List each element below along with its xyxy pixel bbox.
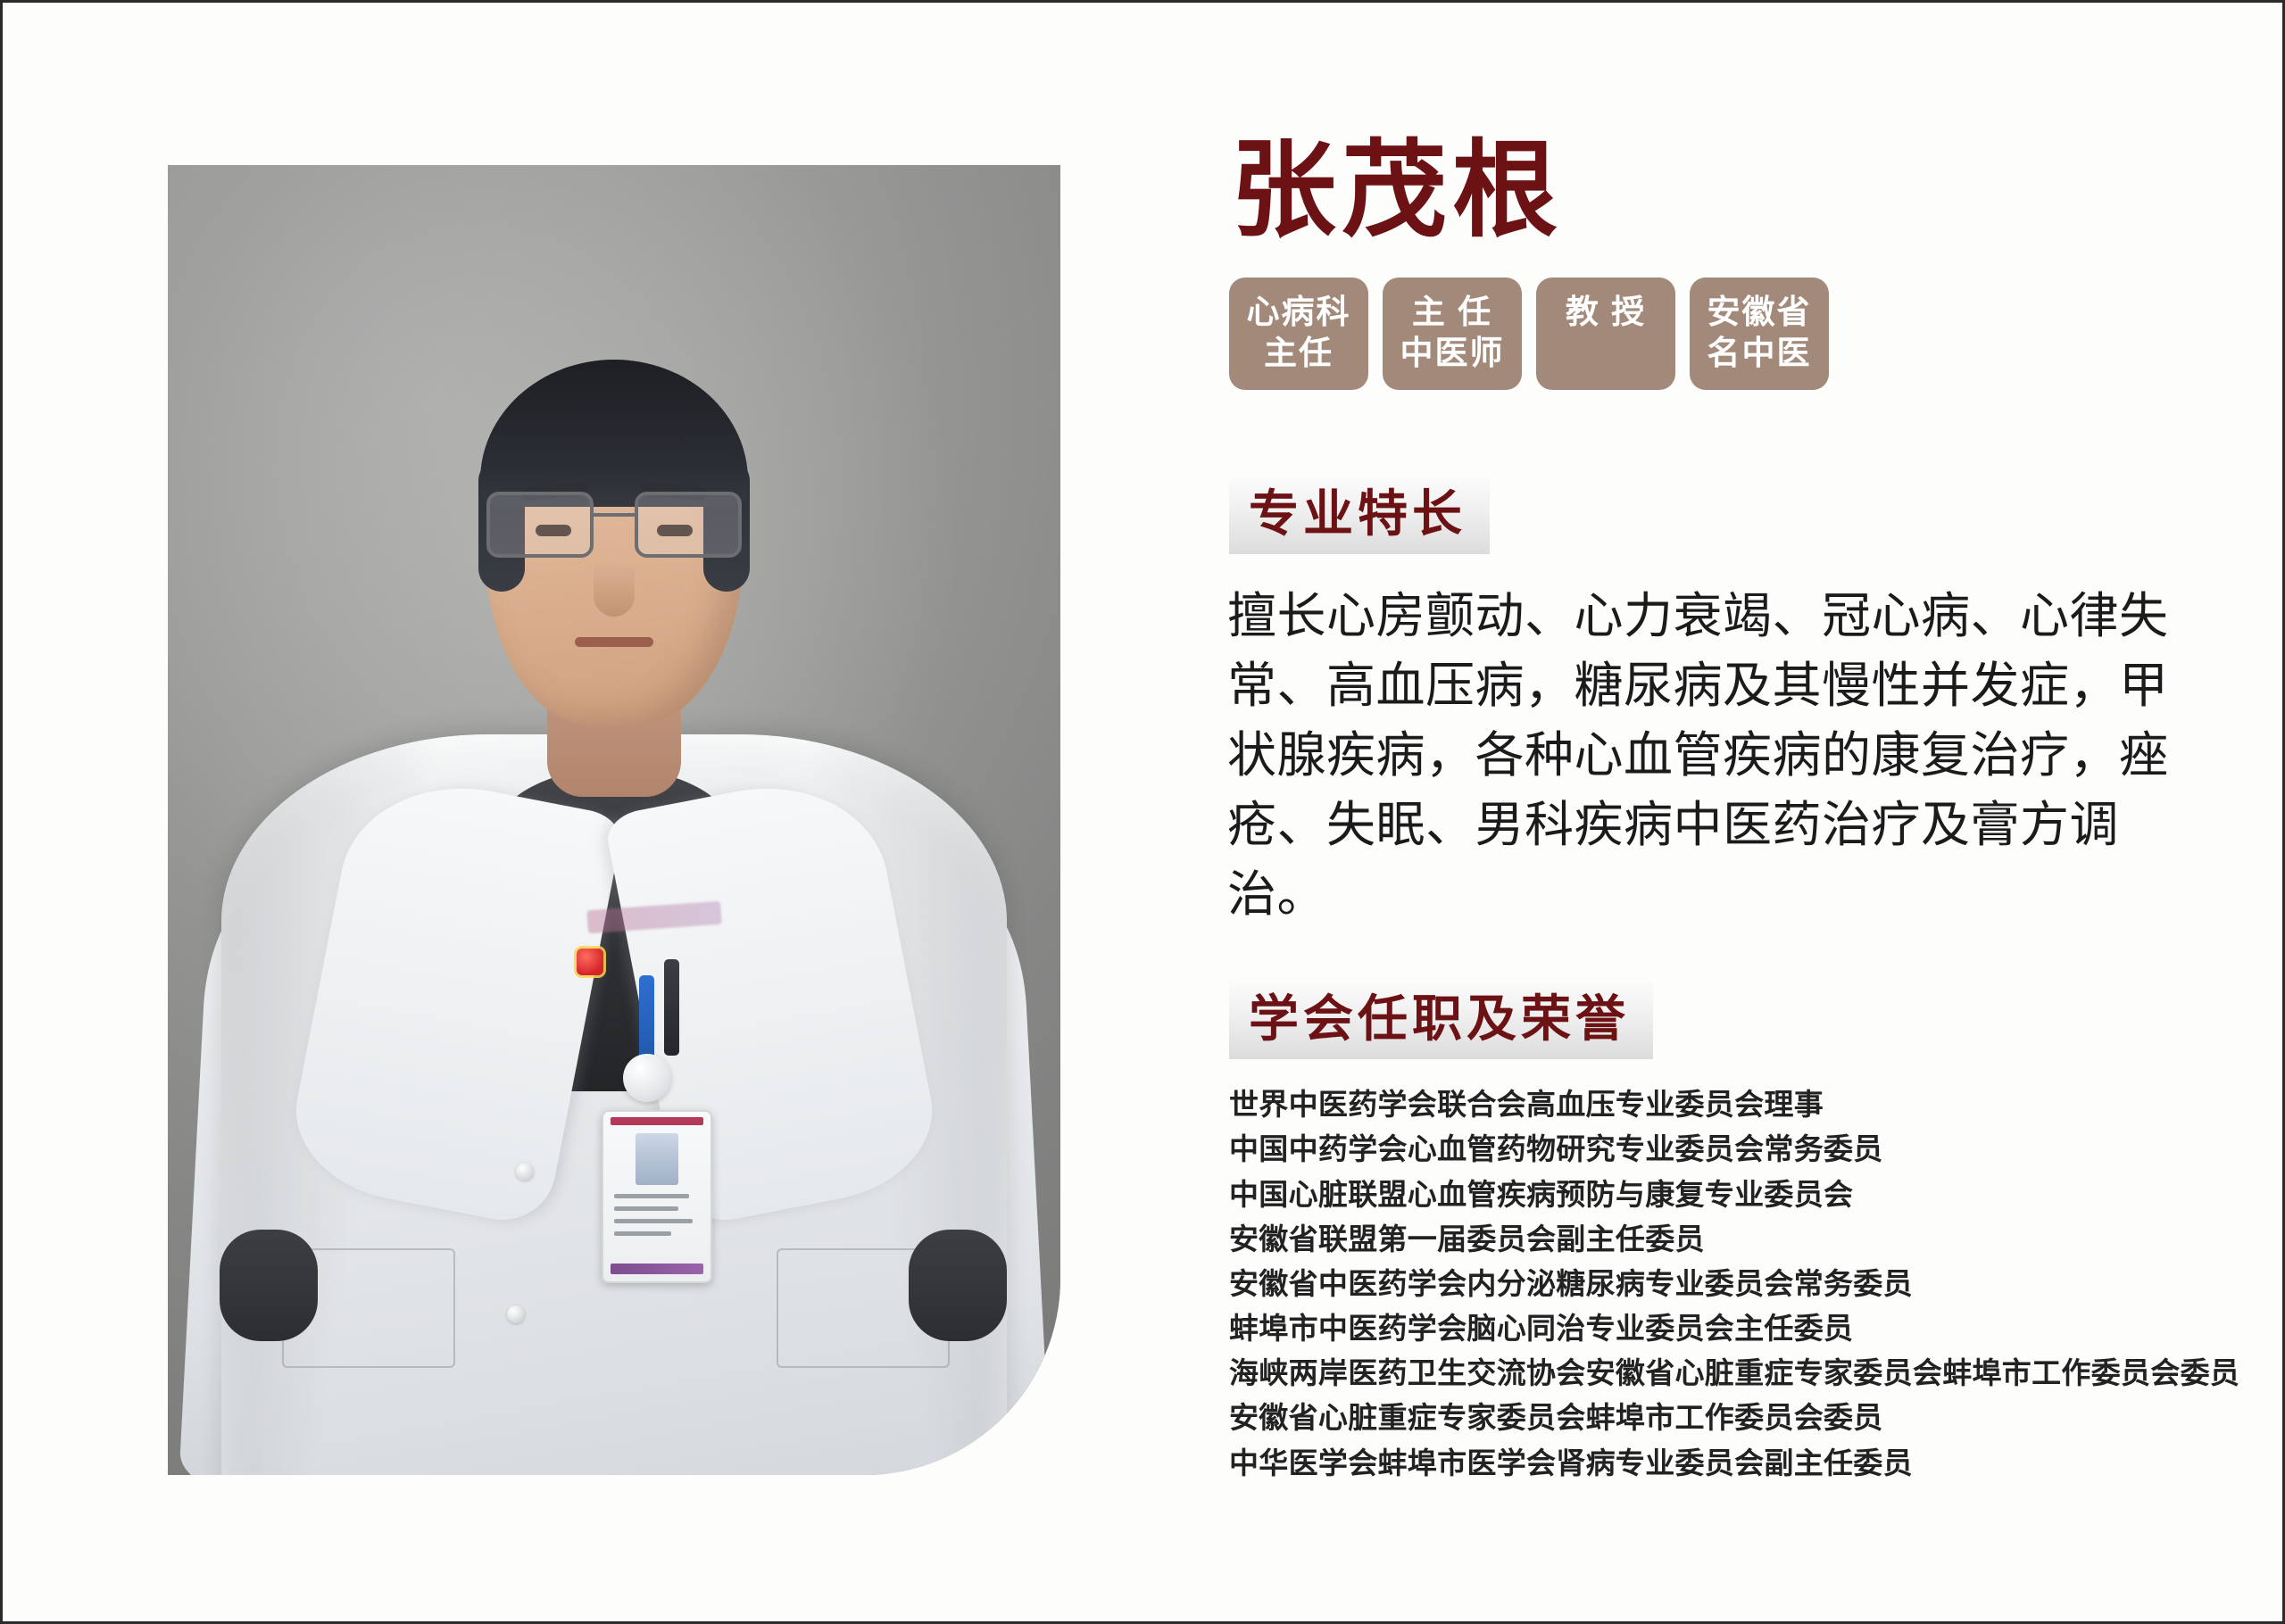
credential-badge-line1: 心病科 xyxy=(1247,294,1351,330)
eyeglasses-icon xyxy=(485,492,744,556)
credential-badge-line1: 主 任 xyxy=(1412,294,1492,330)
credential-badge-line2: 名中医 xyxy=(1706,333,1813,374)
credential-badge: 心病科 主任 xyxy=(1229,278,1368,390)
id-card-text-line xyxy=(614,1206,678,1211)
staff-id-card xyxy=(602,1110,712,1283)
credential-badge: 主 任 中医师 xyxy=(1383,278,1522,390)
credential-badge: 安徽省 名中医 xyxy=(1690,278,1829,390)
doctor-info-panel: 张茂根 心病科 主任 主 任 中医师 教 授 安徽省 名中医 专业特长 擅长心房… xyxy=(1222,137,2222,1486)
hair xyxy=(480,360,748,507)
credential-badge-line1: 教 授 xyxy=(1566,294,1646,330)
credential-badge: 教 授 xyxy=(1536,278,1675,390)
credential-badge-line1: 安徽省 xyxy=(1708,294,1812,330)
credential-badge-line2: 主任 xyxy=(1245,333,1352,374)
glasses-bridge xyxy=(591,513,637,517)
badge-reel-icon xyxy=(623,1054,671,1102)
lens-left xyxy=(486,492,594,558)
list-item: 海峡两岸医药卫生交流协会安徽省心脏重症专家委员会蚌埠市工作委员会委员 xyxy=(1229,1351,2222,1396)
lens-right xyxy=(635,492,742,558)
list-item: 世界中医药学会联合会高血压专业委员会理事 xyxy=(1229,1082,2222,1127)
list-item: 安徽省心脏重症专家委员会蚌埠市工作委员会委员 xyxy=(1229,1396,2222,1440)
doctor-profile-card: 张茂根 心病科 主任 主 任 中医师 教 授 安徽省 名中医 专业特长 擅长心房… xyxy=(0,0,2285,1624)
hand-left xyxy=(220,1230,318,1341)
id-card-footer-strip xyxy=(611,1264,703,1274)
mouth xyxy=(575,637,653,647)
doctor-name: 张茂根 xyxy=(1231,137,2222,247)
coat-button xyxy=(507,1305,525,1323)
honors-list: 世界中医药学会联合会高血压专业委员会理事 中国中药学会心血管药物研究专业委员会常… xyxy=(1229,1082,2222,1485)
nose xyxy=(594,563,635,617)
section-heading-honors: 学会任职及荣誉 xyxy=(1229,982,1653,1059)
list-item: 安徽省中医药学会内分泌糖尿病专业委员会常务委员 xyxy=(1229,1262,2222,1306)
portrait-backdrop xyxy=(168,165,1060,1475)
specialty-description: 擅长心房颤动、心力衰竭、冠心病、心律失常、高血压病，糖尿病及其慢性并发症，甲状腺… xyxy=(1227,581,2196,929)
credential-badge-line2: 中医师 xyxy=(1399,333,1506,374)
id-card-text-line xyxy=(614,1194,689,1198)
id-card-header-strip xyxy=(611,1117,703,1125)
doctor-figure xyxy=(168,165,1060,1475)
list-item: 中国心脏联盟心血管疾病预防与康复专业委员会 xyxy=(1229,1172,2222,1217)
list-item: 中国中药学会心血管药物研究专业委员会常务委员 xyxy=(1229,1127,2222,1172)
list-item: 安徽省联盟第一届委员会副主任委员 xyxy=(1229,1217,2222,1262)
pen-dark-icon xyxy=(664,959,679,1056)
list-item: 蚌埠市中医药学会脑心同治专业委员会主任委员 xyxy=(1229,1306,2222,1351)
hand-right xyxy=(909,1230,1007,1341)
id-card-text-line xyxy=(614,1231,671,1236)
id-card-text-line xyxy=(614,1219,693,1223)
party-emblem-pin-icon xyxy=(577,949,603,975)
credential-badge-list: 心病科 主任 主 任 中医师 教 授 安徽省 名中医 xyxy=(1229,278,2222,390)
section-heading-specialty: 专业特长 xyxy=(1229,477,1490,554)
id-card-photo xyxy=(636,1133,678,1185)
list-item: 中华医学会蚌埠市医学会肾病专业委员会副主任委员 xyxy=(1229,1441,2222,1486)
coat-button xyxy=(516,1163,534,1181)
doctor-portrait-photo xyxy=(168,165,1060,1475)
